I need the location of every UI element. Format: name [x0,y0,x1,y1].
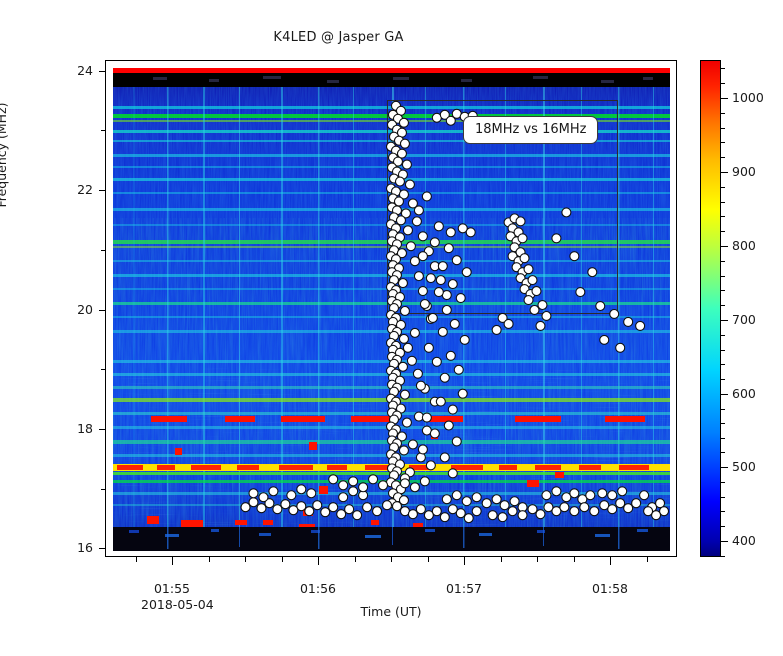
ytick-16 [99,548,106,549]
cbtick-label-1000: 1000 [732,90,764,105]
cbtick-label-400: 400 [732,533,756,548]
cbtick-900 [721,172,728,173]
cbtick-minor [721,187,725,188]
x-axis-label: Time (UT) [105,604,677,619]
y-axis-label: Frequency (MHz) [0,75,9,235]
xtick-minor-5 [355,557,356,562]
cbtick-1000 [721,98,728,99]
ytick-minor-23 [101,130,106,131]
cbtick-400 [721,541,728,542]
figure-canvas: K4LED @ Jasper GA [0,0,783,656]
cbtick-minor [721,276,725,277]
cbtick-label-500: 500 [732,459,756,474]
xtick-label-0158: 01:58 [575,581,645,596]
cbtick-minor [721,157,725,158]
cbtick-minor [721,409,725,410]
page-title: K4LED @ Jasper GA [0,30,677,45]
xtick-minor-7 [428,557,429,562]
annotation-label: 18MHz vs 16MHz [463,116,598,144]
cbtick-minor [721,438,725,439]
cbtick-minor [721,423,725,424]
cbtick-minor [721,452,725,453]
cbtick-minor [721,482,725,483]
cbtick-label-600: 600 [732,386,756,401]
ytick-18 [99,429,106,430]
cbtick-minor [721,335,725,336]
ytick-label-22: 22 [53,182,93,197]
cbtick-minor [721,497,725,498]
xtick-minor-2 [209,557,210,562]
xtick-minor-3 [245,557,246,562]
xtick-label-0155: 01:55 [137,581,207,596]
cbtick-minor [721,305,725,306]
xtick-minor-8 [501,557,502,562]
cbtick-minor [721,511,725,512]
cbtick-800 [721,246,728,247]
xtick-0156 [318,557,319,565]
xtick-minor-10 [574,557,575,562]
cbtick-minor [721,556,725,557]
ytick-22 [99,190,106,191]
xtick-minor-9 [537,557,538,562]
cbtick-minor [721,350,725,351]
cbtick-700 [721,320,728,321]
xtick-label-0157: 01:57 [429,581,499,596]
ytick-minor-19 [101,369,106,370]
cbtick-minor [721,68,725,69]
cbtick-minor [721,83,725,84]
xtick-minor-1 [136,557,137,562]
cbtick-minor [721,290,725,291]
cbtick-label-700: 700 [732,312,756,327]
cbtick-minor [721,216,725,217]
cbtick-500 [721,467,728,468]
cbtick-minor [721,202,725,203]
cbtick-minor [721,113,725,114]
cbtick-minor [721,231,725,232]
cbtick-label-800: 800 [732,238,756,253]
cbtick-minor [721,261,725,262]
colorbar-jet-ramp [701,61,720,556]
cbtick-minor [721,379,725,380]
ytick-24 [99,71,106,72]
cbtick-minor [721,364,725,365]
xtick-0157 [464,557,465,565]
ytick-label-18: 18 [53,421,93,436]
xtick-minor-11 [647,557,648,562]
cbtick-label-900: 900 [732,164,756,179]
ytick-minor-17 [101,489,106,490]
cbtick-minor [721,128,725,129]
ytick-label-16: 16 [53,540,93,555]
xtick-0158 [610,557,611,565]
xtick-minor-4 [282,557,283,562]
xtick-minor-6 [391,557,392,562]
colorbar-gradient [700,60,721,557]
ytick-label-20: 20 [53,302,93,317]
xtick-label-0156: 01:56 [283,581,353,596]
ytick-minor-21 [101,250,106,251]
cbtick-minor [721,526,725,527]
ytick-label-24: 24 [53,63,93,78]
cbtick-600 [721,394,728,395]
ytick-20 [99,310,106,311]
cbtick-minor [721,142,725,143]
xtick-0155 [172,557,173,565]
